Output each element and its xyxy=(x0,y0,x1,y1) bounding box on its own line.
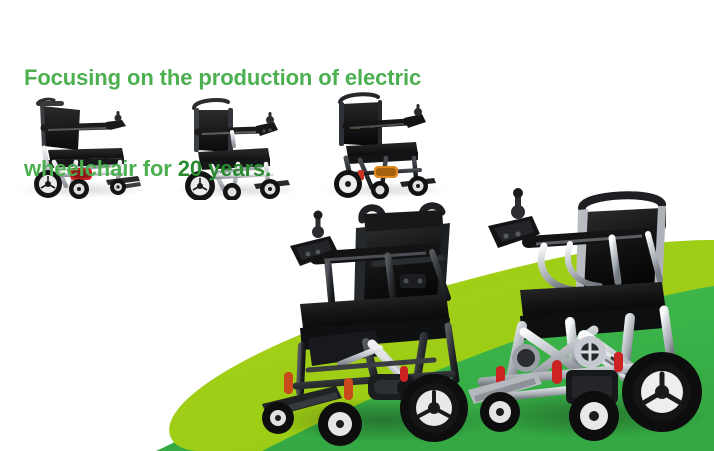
promo-banner: Focusing on the production of electric w… xyxy=(0,0,714,451)
product-image-large-black-electric-wheelchair-high-back xyxy=(256,196,496,451)
headline-line-1: Focusing on the production of electric xyxy=(24,65,421,90)
page-title: Focusing on the production of electric w… xyxy=(24,33,421,185)
product-image-large-silver-electric-wheelchair xyxy=(466,186,710,451)
headline-years-accent: 20 years. xyxy=(178,156,271,181)
headline-line-2-prefix: wheelchair for xyxy=(24,156,178,181)
